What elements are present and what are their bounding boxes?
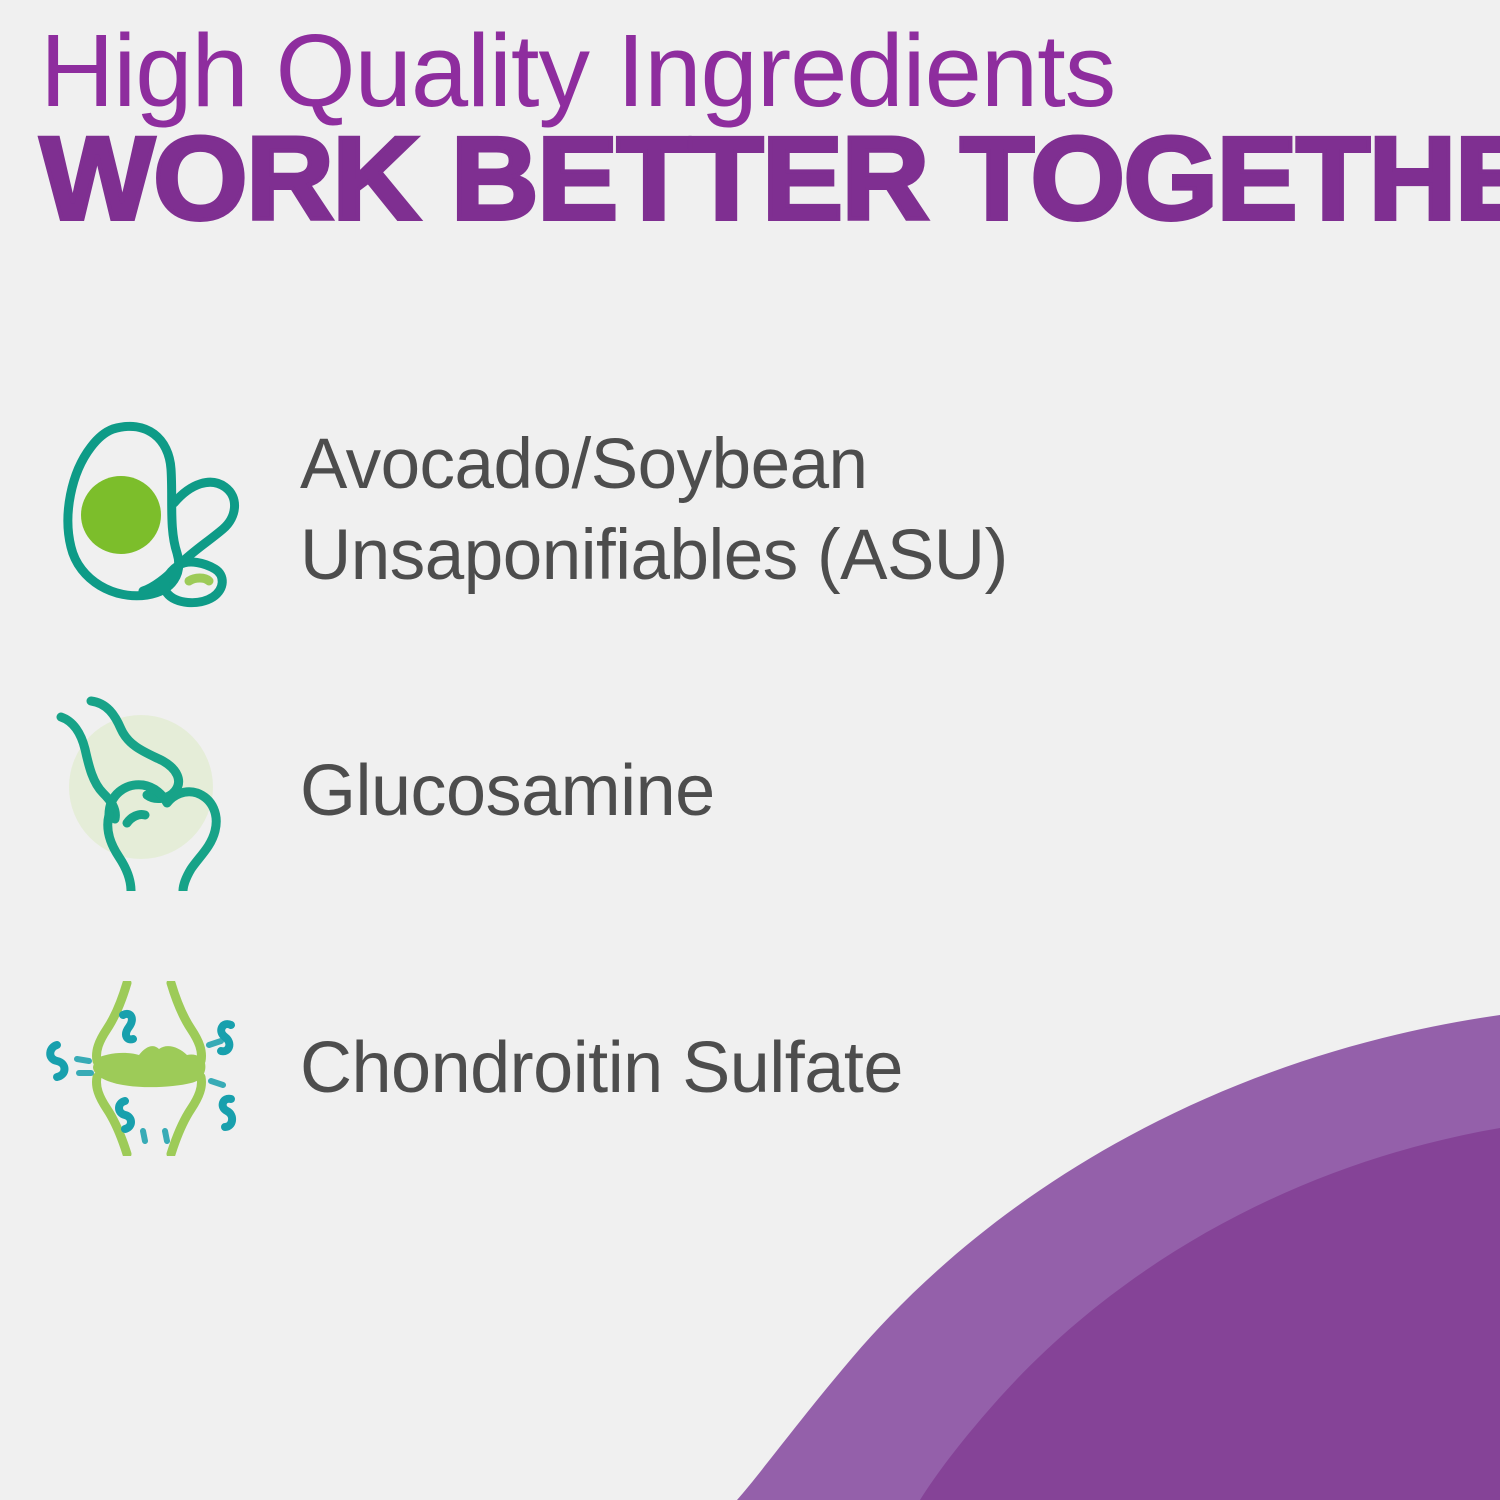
swoosh-inner-band bbox=[920, 1128, 1500, 1500]
headline: High Quality Ingredients WORK BETTER TOG… bbox=[40, 18, 1460, 236]
list-item: Glucosamine bbox=[0, 686, 1400, 896]
cartilage-fill bbox=[93, 1046, 205, 1087]
headline-line-2: WORK BETTER TOGETHER bbox=[40, 123, 1500, 236]
joint-molecules-icon bbox=[0, 981, 300, 1156]
list-item-label: Glucosamine bbox=[300, 745, 715, 837]
headline-line-1: High Quality Ingredients bbox=[40, 18, 1460, 123]
avocado-icon bbox=[0, 411, 300, 611]
list-item-label: Avocado/Soybean Unsaponifiables (ASU) bbox=[300, 420, 1008, 602]
list-item-label: Chondroitin Sulfate bbox=[300, 1022, 903, 1114]
avocado-pit bbox=[81, 476, 161, 554]
knee-joint-icon bbox=[0, 691, 300, 891]
list-item: Avocado/Soybean Unsaponifiables (ASU) bbox=[0, 396, 1400, 626]
list-item: Chondroitin Sulfate bbox=[0, 981, 1400, 1156]
infographic-canvas: High Quality Ingredients WORK BETTER TOG… bbox=[0, 0, 1500, 1500]
